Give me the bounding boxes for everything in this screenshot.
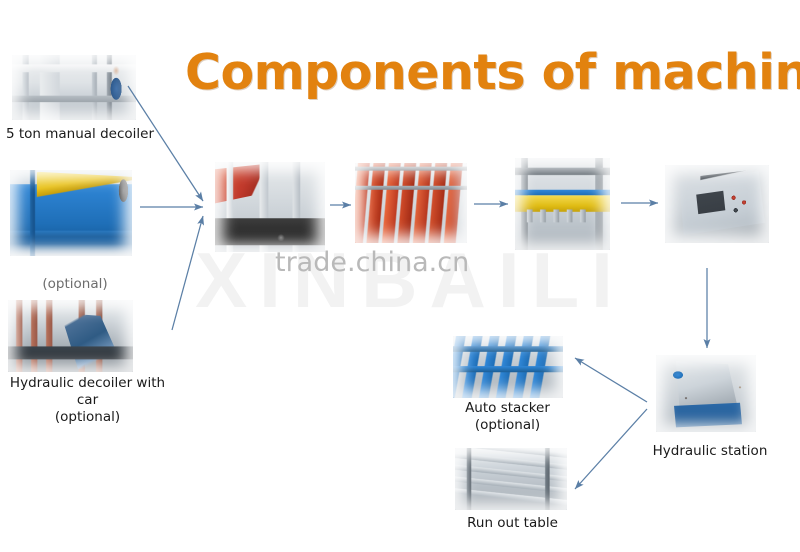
arrow-decoiler-car-to-leveller xyxy=(172,216,203,330)
arrow-manual-decoiler-to-leveller xyxy=(128,86,203,201)
arrow-hydraulic-station-to-auto-stacker xyxy=(575,358,647,402)
diagram-canvas: XINBAILI Components of machine 5 ton man… xyxy=(0,0,800,552)
site-watermark: trade.china.cn xyxy=(275,247,525,278)
arrow-hydraulic-station-to-run-out-table xyxy=(575,409,647,489)
